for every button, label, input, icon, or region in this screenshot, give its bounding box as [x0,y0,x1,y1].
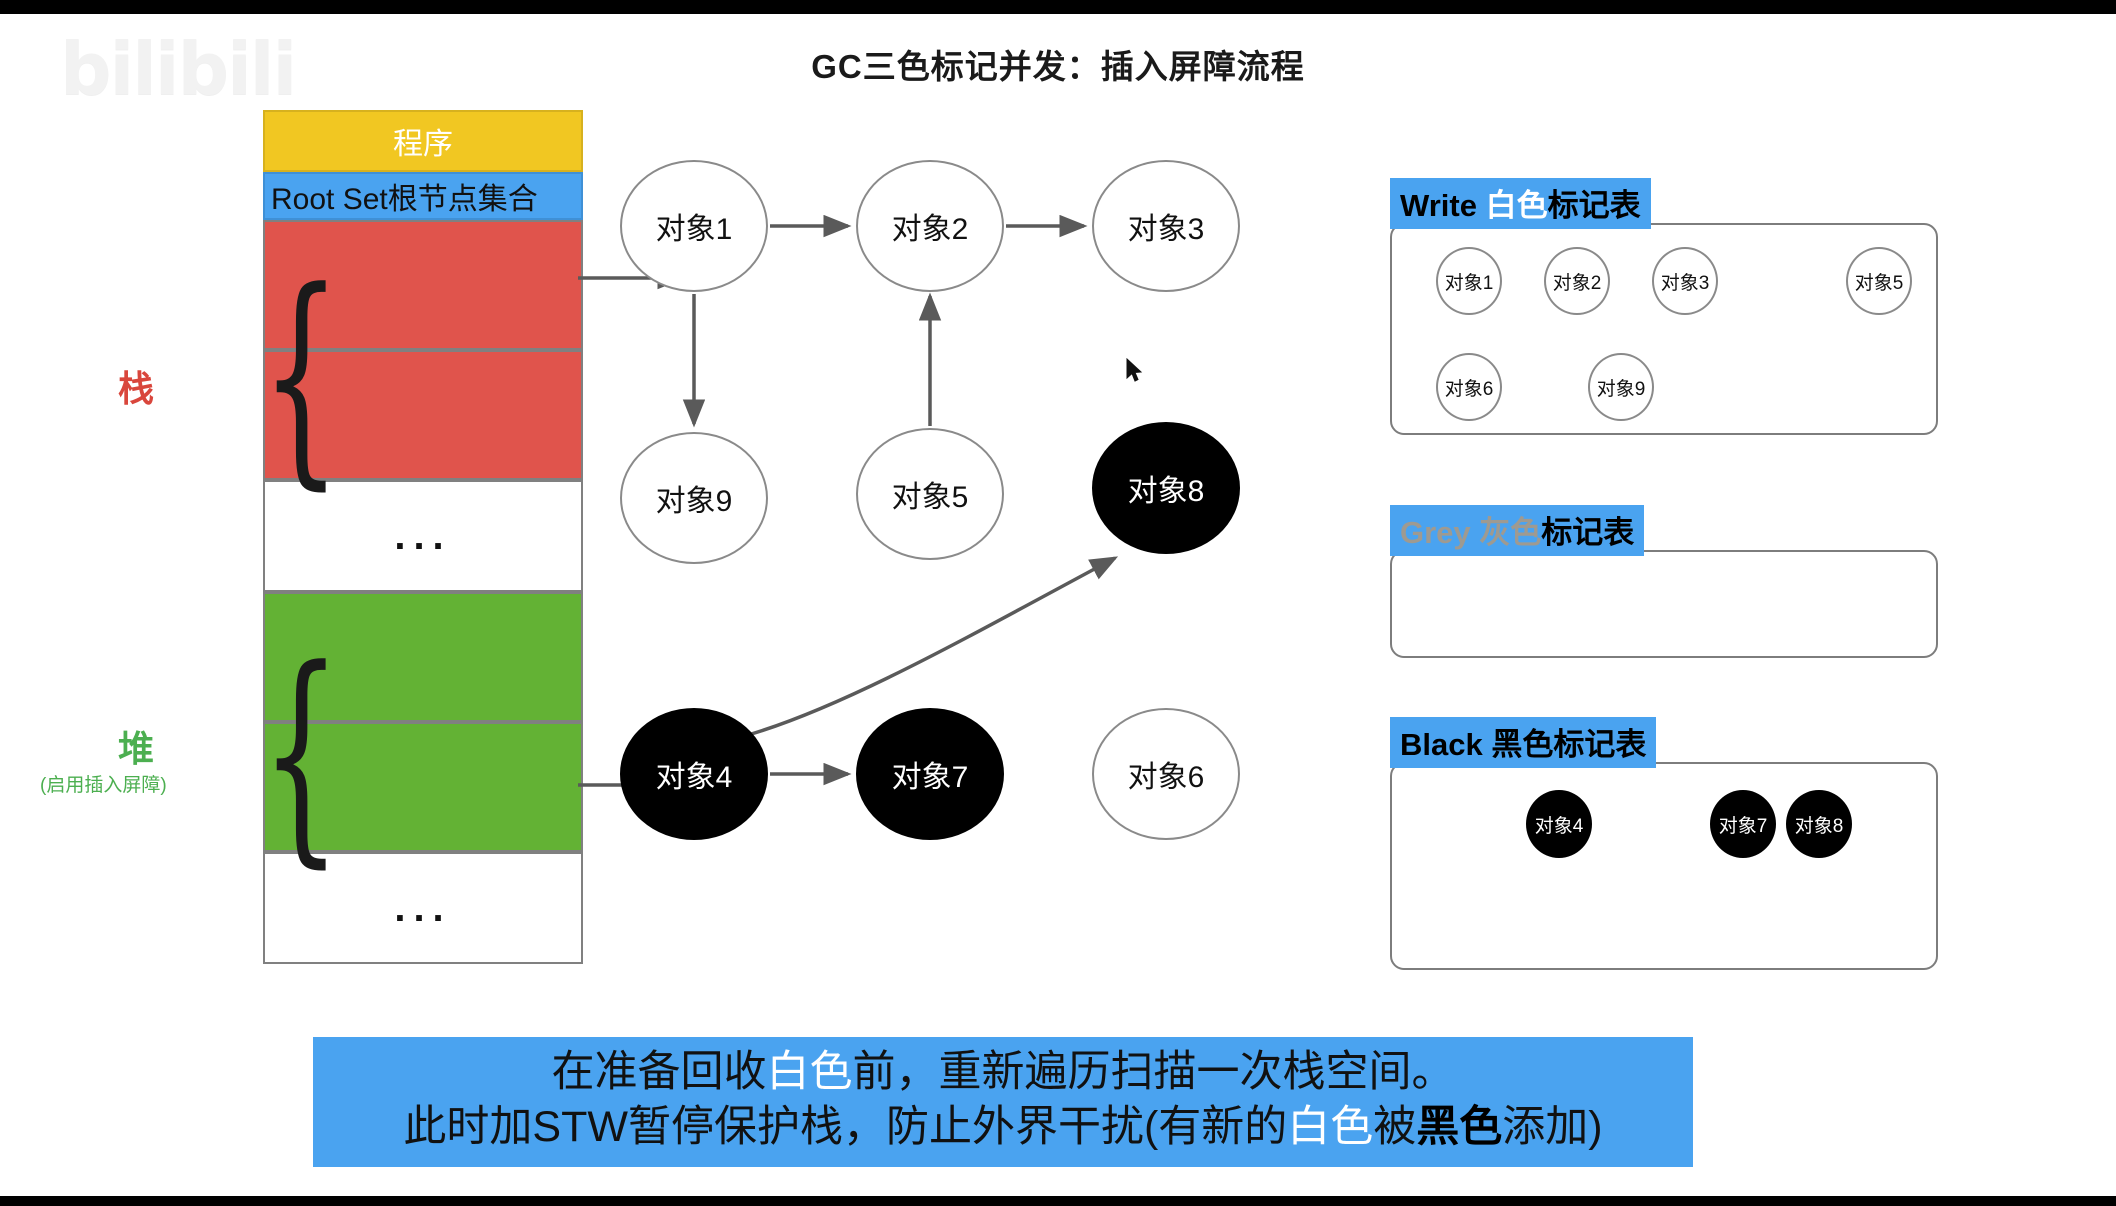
graph-node-obj4[interactable]: 对象4 [620,708,768,840]
caption-l2-mid: 被 [1373,1103,1416,1151]
white-mark-table-box: 对象1 对象2 对象3 对象5 对象6 对象9 [1390,223,1938,435]
black-mark-table-panel: Black 黑色标记表 对象4 对象7 对象8 [1390,717,1938,970]
black-table-title-rest: 标记表 [1553,727,1646,762]
caption-l1-post: 前，重新遍历扫描一次栈空间。 [853,1048,1455,1096]
stack-label: 栈 [118,360,154,412]
ellipsis-heap: ... [394,900,451,916]
white-table-title-word: 白色 [1477,188,1548,223]
caption-banner: 在准备回收白色前，重新遍历扫描一次栈空间。 此时加STW暂停保护栈，防止外界干扰… [313,1037,1693,1167]
root-set-block: Root Set根节点集合 [263,172,583,220]
white-mark-table-title: Write 白色标记表 [1390,178,1651,229]
white-table-title-en: Write [1400,188,1477,223]
white-table-chip-obj2[interactable]: 对象2 [1544,247,1610,315]
caption-line-2: 此时加STW暂停保护栈，防止外界干扰(有新的白色被黑色添加) [313,1100,1693,1155]
black-table-chip-obj4[interactable]: 对象4 [1526,790,1592,858]
black-table-title-word: 黑色 [1483,727,1554,762]
stack-brace: { [261,262,341,492]
black-table-chip-obj7[interactable]: 对象7 [1710,790,1776,858]
heap-sublabel: (启用插入屏障) [40,770,167,797]
black-mark-table-box: 对象4 对象7 对象8 [1390,762,1938,970]
white-table-chip-obj5[interactable]: 对象5 [1846,247,1912,315]
caption-l2-black: 黑色 [1416,1103,1502,1151]
black-mark-table-title: Black 黑色标记表 [1390,717,1656,768]
white-table-chip-obj1[interactable]: 对象1 [1436,247,1502,315]
heap-label: 堆 [118,720,154,772]
caption-l2-pre: 此时加STW暂停保护栈，防止外界干扰(有新的 [403,1103,1287,1151]
top-letterbox-bar [0,0,2116,14]
graph-node-obj9[interactable]: 对象9 [620,432,768,564]
grey-table-title-en: Grey [1400,515,1471,550]
graph-node-obj2[interactable]: 对象2 [856,160,1004,292]
black-table-title-en: Black [1400,727,1483,762]
white-table-chip-obj6[interactable]: 对象6 [1436,353,1502,421]
heap-brace: { [261,640,341,870]
mouse-cursor [1126,358,1144,384]
white-table-chip-obj9[interactable]: 对象9 [1588,353,1654,421]
program-block: 程序 [263,110,583,172]
grey-mark-table-panel: Grey 灰色标记表 [1390,505,1938,658]
caption-l2-white: 白色 [1287,1103,1373,1151]
caption-l1-white: 白色 [767,1048,853,1096]
grey-table-title-rest: 标记表 [1541,515,1634,550]
root-set-label: Root Set根节点集合 [265,174,587,218]
caption-line-1: 在准备回收白色前，重新遍历扫描一次栈空间。 [313,1045,1693,1100]
grey-mark-table-box [1390,550,1938,658]
bottom-letterbox-bar [0,1196,2116,1206]
white-table-chip-obj3[interactable]: 对象3 [1652,247,1718,315]
white-table-title-rest: 标记表 [1548,188,1641,223]
graph-node-obj5[interactable]: 对象5 [856,428,1004,560]
ellipsis-stack: ... [394,528,451,544]
graph-node-obj8[interactable]: 对象8 [1092,422,1240,554]
object-graph: 对象1 对象2 对象3 对象9 对象5 对象8 对象4 对象7 对象6 [620,160,1380,940]
graph-node-obj6[interactable]: 对象6 [1092,708,1240,840]
graph-node-obj7[interactable]: 对象7 [856,708,1004,840]
grey-mark-table-title: Grey 灰色标记表 [1390,505,1644,556]
white-mark-table-panel: Write 白色标记表 对象1 对象2 对象3 对象5 对象6 对象9 [1390,178,1938,435]
page-title: GC三色标记并发：插入屏障流程 [0,40,2116,88]
program-label: 程序 [265,112,581,170]
slide-canvas: bilibili GC三色标记并发：插入屏障流程 程序 Root Set根节点集… [0,0,2116,1206]
caption-l2-post: 添加) [1502,1103,1602,1151]
black-table-chip-obj8[interactable]: 对象8 [1786,790,1852,858]
caption-l1-pre: 在准备回收 [552,1048,767,1096]
graph-node-obj1[interactable]: 对象1 [620,160,768,292]
grey-table-title-word: 灰色 [1471,515,1542,550]
graph-node-obj3[interactable]: 对象3 [1092,160,1240,292]
